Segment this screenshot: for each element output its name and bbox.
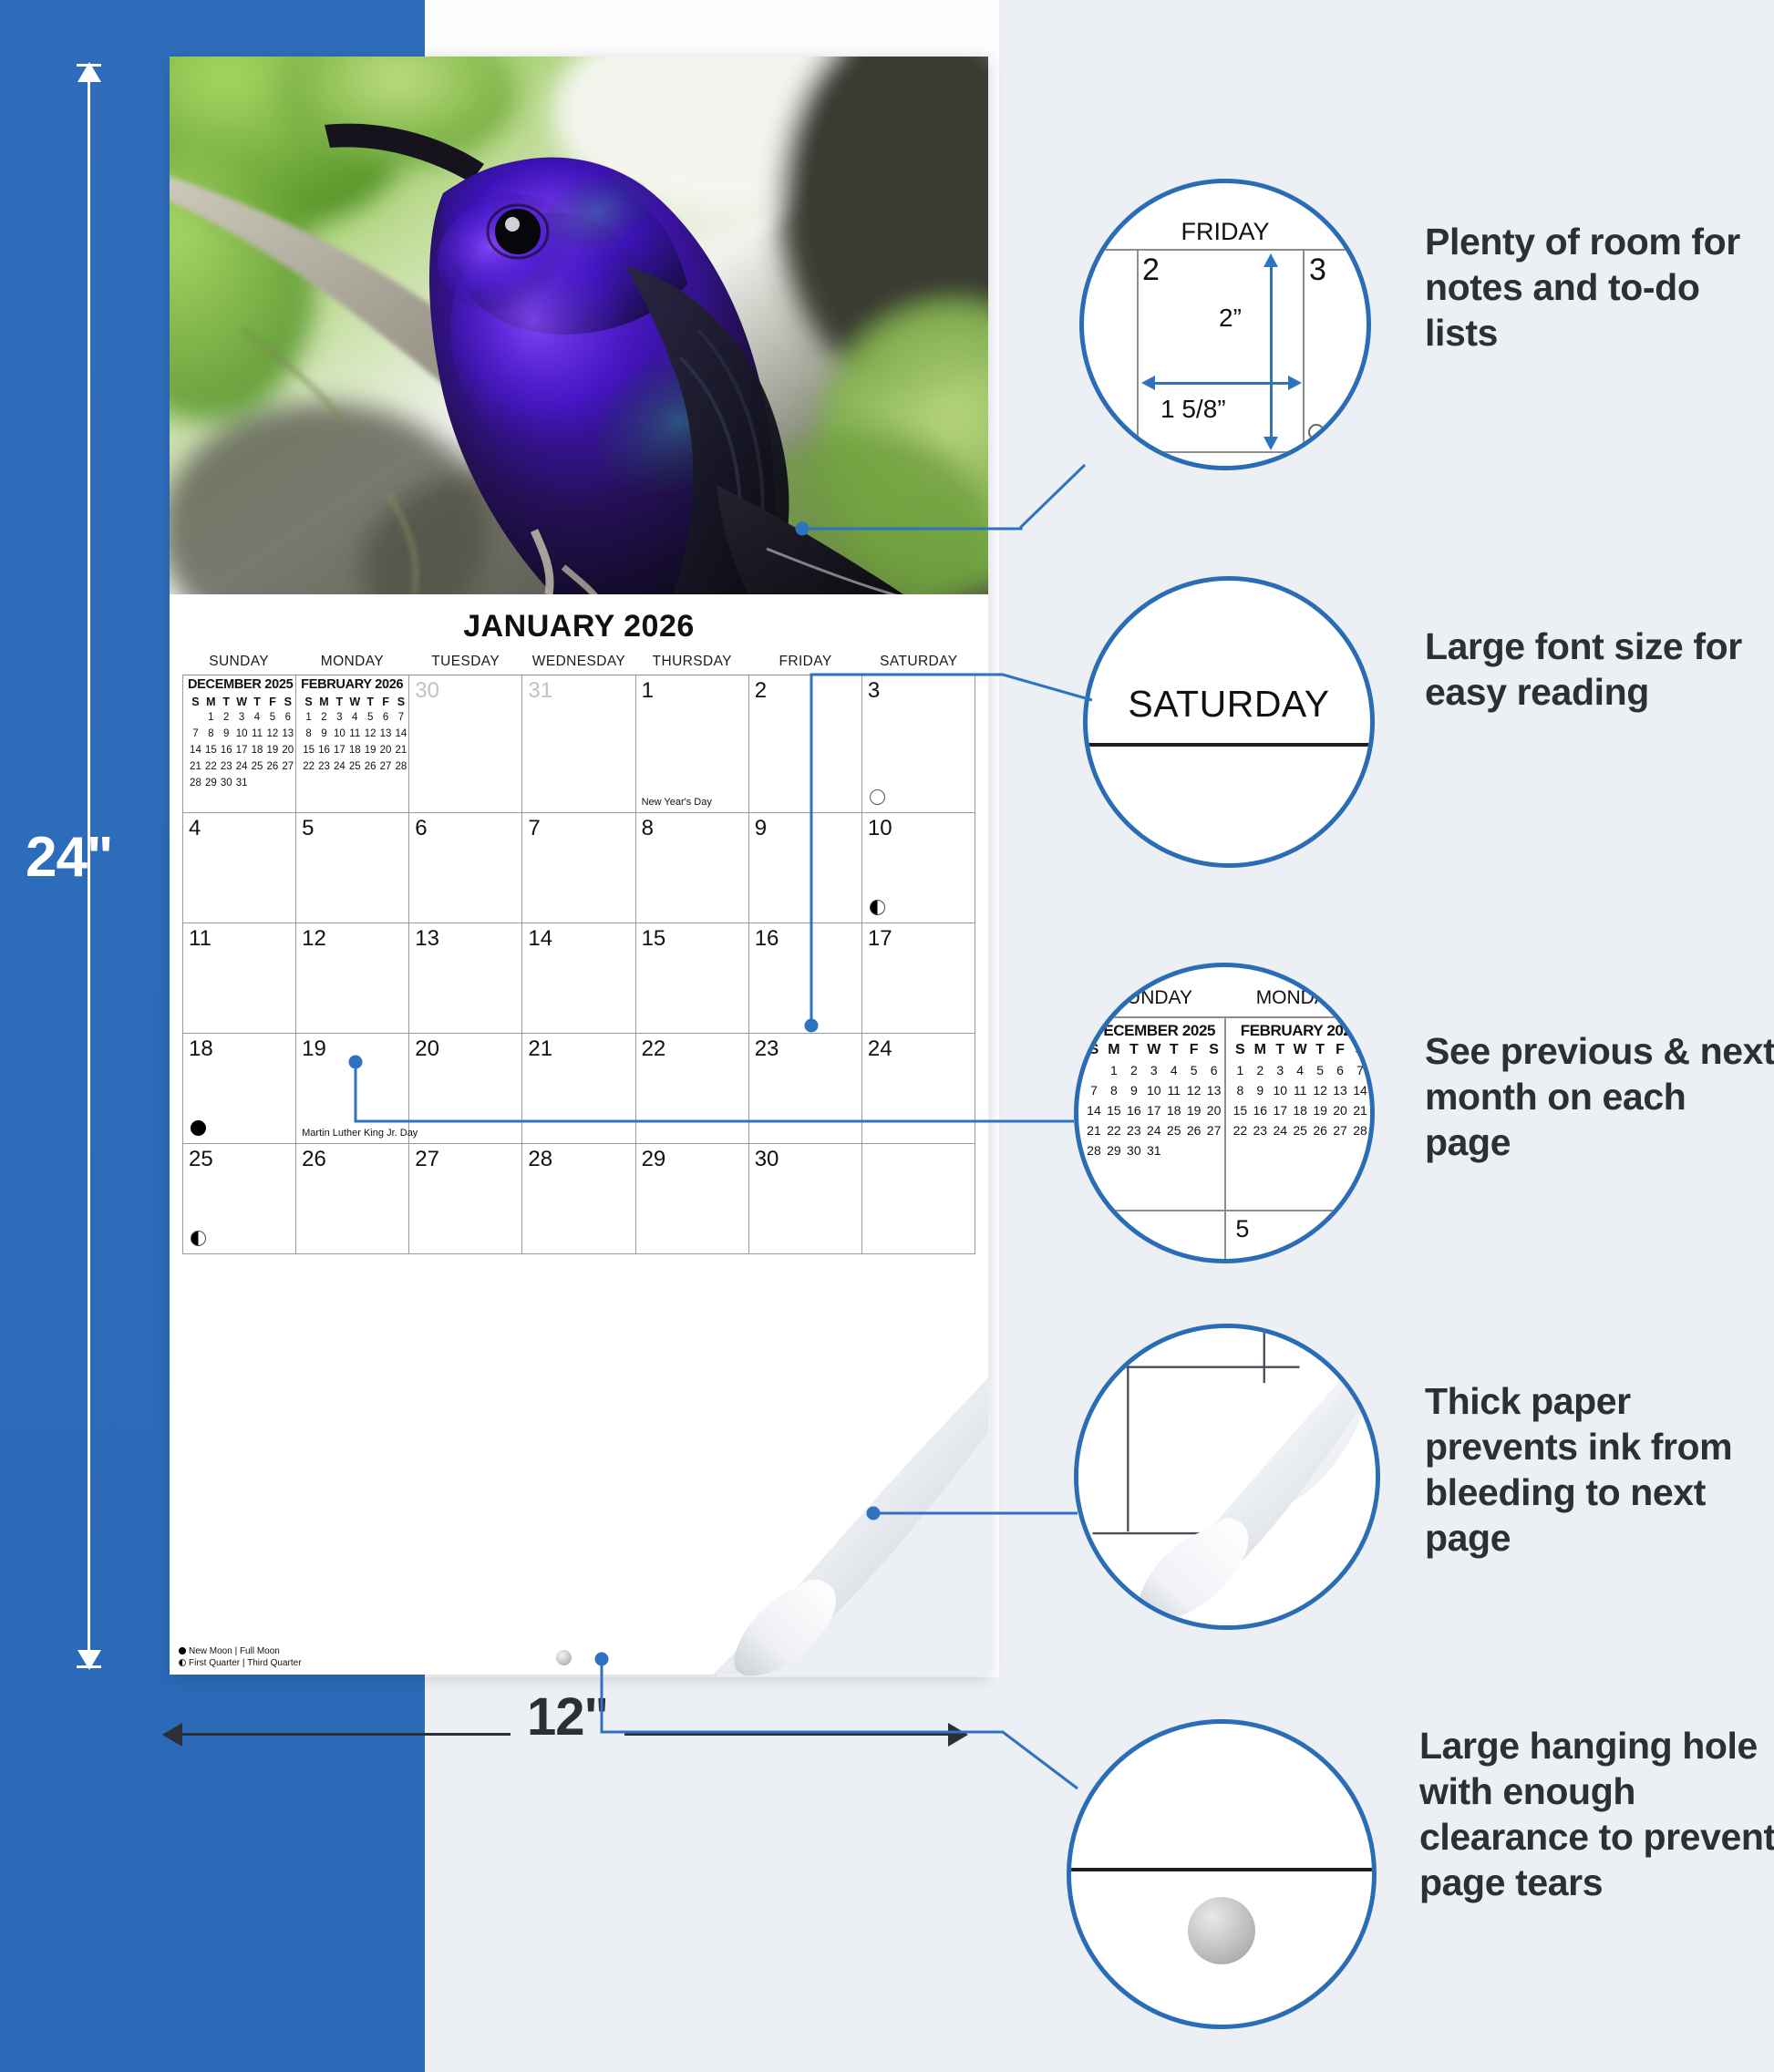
calendar-day-cell[interactable]: 14 <box>522 923 635 1033</box>
day-header-tuesday: TUESDAY <box>409 654 522 675</box>
callout-saturday-sample: SATURDAY <box>1088 683 1370 726</box>
legend-line-2: First Quarter | Third Quarter <box>179 1657 302 1669</box>
calendar-day-number: 11 <box>189 926 211 952</box>
mini-month-week: 28293031 <box>188 775 295 791</box>
callout-thick-paper <box>1074 1324 1380 1630</box>
cell-width-label: 1 5/8” <box>1160 395 1226 424</box>
calendar-day-number: 14 <box>528 926 552 952</box>
mini-month-week: 22232425262728 <box>301 758 408 775</box>
calendar-day-cell[interactable] <box>862 1144 975 1253</box>
mini-month-week: 1234567 <box>1230 1060 1370 1080</box>
calendar-day-number: 18 <box>189 1036 213 1062</box>
calendar-day-cell[interactable]: 26 <box>296 1144 409 1253</box>
day-header-row: SUNDAY MONDAY TUESDAY WEDNESDAY THURSDAY… <box>182 654 975 675</box>
calendar-day-cell[interactable]: 21 <box>522 1034 635 1143</box>
calendar-day-number: 16 <box>755 926 779 952</box>
mini-month-title: FEBRUARY 2026 <box>1230 1022 1370 1040</box>
feature-text-hole: Large hanging hole with enough clearance… <box>1419 1723 1774 1905</box>
full-moon-icon <box>870 789 885 805</box>
calendar-week-row: 252627282930 <box>183 1144 975 1254</box>
new-moon-icon <box>179 1647 186 1655</box>
calendar-day-cell[interactable]: 13 <box>409 923 522 1033</box>
infographic-stage: 24" 12" <box>0 0 1774 2072</box>
callout-date-3: 3 <box>1309 253 1326 288</box>
calendar-day-cell[interactable]: 1New Year's Day <box>636 675 749 812</box>
calendar-day-cell[interactable]: 29 <box>636 1144 749 1253</box>
calendar-day-cell[interactable]: 11 <box>183 923 296 1033</box>
mini-month-day-headers: SMTWTFS <box>188 695 295 709</box>
new-moon-icon <box>191 1120 206 1136</box>
calendar-day-cell[interactable]: DECEMBER 2025SMTWTFS12345678910111213141… <box>183 675 296 812</box>
mini-month-day-headers: SMTWTFS <box>1230 1040 1370 1060</box>
mini-month-title: FEBRUARY 2026 <box>301 677 408 692</box>
calendar-day-cell[interactable]: FEBRUARY 2026SMTWTFS12345678910111213141… <box>296 675 409 812</box>
calendar-day-number: 20 <box>415 1036 439 1062</box>
calendar-day-number: 30 <box>415 678 439 704</box>
calendar-day-number: 21 <box>528 1036 552 1062</box>
mini-month-day-headers: SMTWTFS <box>1084 1040 1224 1060</box>
mini-month-week: 21222324252627 <box>188 758 295 775</box>
calendar-day-number: 13 <box>415 926 439 952</box>
calendar-day-cell[interactable]: 31 <box>522 675 635 812</box>
calendar-day-cell[interactable]: 17 <box>862 923 975 1033</box>
callout-grid-line-right <box>1303 249 1305 470</box>
callout-sunday-header: SUNDAY <box>1080 987 1226 1009</box>
calendar-day-number: 22 <box>642 1036 666 1062</box>
cell-height-label: 2” <box>1219 304 1242 333</box>
third-moon-icon <box>870 900 885 915</box>
calendar-day-cell[interactable]: 12 <box>296 923 409 1033</box>
calendar-day-number: 25 <box>189 1147 213 1172</box>
callout-next-date: 5 <box>1235 1215 1249 1243</box>
mini-month-week: 78910111213 <box>188 726 295 742</box>
calendar-day-number: 7 <box>528 816 540 841</box>
moon-phase-legend: New Moon | Full Moon First Quarter | Thi… <box>179 1645 302 1669</box>
mini-month-title: DECEMBER 2025 <box>1084 1022 1224 1040</box>
height-dimension-label: 24" <box>26 825 112 890</box>
day-header-thursday: THURSDAY <box>635 654 748 675</box>
day-header-wednesday: WEDNESDAY <box>522 654 635 675</box>
arrow-up-icon <box>77 62 101 82</box>
mini-month-day-headers: SMTWTFS <box>301 695 408 709</box>
full-moon-icon <box>1308 424 1325 440</box>
feature-text-notes: Plenty of room for notes and to-do lists <box>1425 219 1771 356</box>
callout-date-2: 2 <box>1142 253 1160 288</box>
calendar-day-cell[interactable]: 27 <box>409 1144 522 1253</box>
callout-grid-line-left <box>1137 249 1139 470</box>
calendar-day-number: 15 <box>642 926 666 952</box>
mini-month-title: DECEMBER 2025 <box>188 677 295 692</box>
calendar-page: JANUARY 2026 SUNDAY MONDAY TUESDAY WEDNE… <box>170 594 988 1675</box>
feature-text-months: See previous & next month on each page <box>1425 1028 1774 1165</box>
feature-text-paper: Thick paper prevents ink from bleeding t… <box>1425 1378 1774 1561</box>
mini-month-week: 891011121314 <box>301 726 408 742</box>
callout-adjacent-months: SUNDAY MONDAY DECEMBER 2025SMTWTFS123456… <box>1074 963 1375 1263</box>
calendar-holiday-label: Martin Luther King Jr. Day <box>302 1128 418 1139</box>
calendar-week-row: DECEMBER 2025SMTWTFS12345678910111213141… <box>183 675 975 813</box>
calendar-day-number: 2 <box>755 678 767 704</box>
mini-month-week: 22232425262728 <box>1230 1120 1370 1140</box>
callout-grid-line-bottom <box>1084 451 1367 453</box>
calendar-day-cell[interactable]: 23 <box>749 1034 862 1143</box>
calendar-day-cell[interactable]: 5 <box>296 813 409 923</box>
calendar-day-number: 24 <box>868 1036 892 1062</box>
hanging-hole <box>556 1650 572 1665</box>
calendar-day-cell[interactable]: 4 <box>183 813 296 923</box>
mini-month-week: 123456 <box>188 709 295 726</box>
calendar-day-number: 8 <box>642 816 654 841</box>
calendar-day-cell[interactable]: 8 <box>636 813 749 923</box>
first-quarter-icon <box>179 1659 186 1666</box>
calendar-grid: DECEMBER 2025SMTWTFS12345678910111213141… <box>182 675 975 1254</box>
callout-hanging-hole <box>1067 1719 1377 2029</box>
calendar-week-row: 11121314151617 <box>183 923 975 1034</box>
legend-line-1: New Moon | Full Moon <box>179 1645 302 1657</box>
first-moon-icon <box>191 1231 206 1246</box>
callout-large-font: SATURDAY <box>1083 576 1375 868</box>
arrow-right-icon <box>948 1723 968 1747</box>
day-header-monday: MONDAY <box>295 654 408 675</box>
callout-header-rule <box>1084 1016 1374 1018</box>
callout-monday-header: MONDAY <box>1224 987 1370 1009</box>
mini-month-week: 891011121314 <box>1230 1080 1370 1100</box>
width-measure-arrow <box>1153 382 1290 385</box>
calendar-day-number: 29 <box>642 1147 666 1172</box>
calendar-day-number: 31 <box>528 678 552 704</box>
calendar-day-number: 6 <box>415 816 427 841</box>
day-header-friday: FRIDAY <box>748 654 861 675</box>
hummingbird-photo <box>170 57 988 594</box>
arrow-down-icon <box>1263 437 1278 450</box>
calendar-holiday-label: New Year's Day <box>642 797 712 808</box>
callout-underline-rule <box>1088 743 1370 747</box>
mini-month-week: 1234567 <box>301 709 408 726</box>
mini-month-week: 15161718192021 <box>1230 1100 1370 1120</box>
height-measure-arrow <box>1270 265 1273 438</box>
calendar-day-cell[interactable]: 20 <box>409 1034 522 1143</box>
calendar-week-row: 45678910 <box>183 813 975 923</box>
calendar-day-cell[interactable]: 25 <box>183 1144 296 1253</box>
arrow-down-icon <box>77 1650 101 1670</box>
calendar-day-cell[interactable]: 10 <box>862 813 975 923</box>
callout-friday-header: FRIDAY <box>1084 218 1367 246</box>
mini-month-week: 14151617181920 <box>188 742 295 758</box>
arrow-up-icon <box>1263 253 1278 267</box>
mini-month-february: FEBRUARY 2026SMTWTFS12345678910111213141… <box>1230 1022 1370 1140</box>
feature-text-font: Large font size for easy reading <box>1425 624 1771 715</box>
calendar-day-number: 10 <box>868 816 892 841</box>
calendar-day-cell[interactable]: 16 <box>749 923 862 1033</box>
calendar-day-number: 23 <box>755 1036 779 1062</box>
calendar-day-cell[interactable]: 15 <box>636 923 749 1033</box>
hanging-hole-icon <box>1188 1897 1255 1964</box>
calendar-day-number: 17 <box>868 926 892 952</box>
calendar-day-cell[interactable]: 30 <box>749 1144 862 1253</box>
day-header-saturday: SATURDAY <box>862 654 975 675</box>
callout-page-edge-rule <box>1071 1868 1372 1871</box>
mini-month-week: 14151617181920 <box>1084 1100 1224 1120</box>
calendar-week-row: 1819Martin Luther King Jr. Day2021222324 <box>183 1034 975 1144</box>
callout-column-divider <box>1224 1016 1226 1263</box>
calendar-product: JANUARY 2026 SUNDAY MONDAY TUESDAY WEDNE… <box>170 57 988 1675</box>
calendar-day-cell[interactable]: 7 <box>522 813 635 923</box>
mini-month-week: 78910111213 <box>1084 1080 1224 1100</box>
mini-month-december: DECEMBER 2025SMTWTFS12345678910111213141… <box>1084 1022 1224 1160</box>
calendar-day-number: 9 <box>755 816 767 841</box>
calendar-day-cell[interactable]: 3 <box>862 675 975 812</box>
calendar-day-number: 3 <box>868 678 880 704</box>
calendar-day-cell[interactable]: 9 <box>749 813 862 923</box>
paper-curl-illustration <box>1078 1328 1376 1625</box>
calendar-day-cell[interactable]: 24 <box>862 1034 975 1143</box>
callout-header-rule <box>1084 249 1367 251</box>
mini-month-week: 28293031 <box>1084 1140 1224 1160</box>
mini-month-week: 21222324252627 <box>1084 1120 1224 1140</box>
arrow-left-icon <box>1141 376 1155 390</box>
calendar-day-number: 5 <box>302 816 314 841</box>
calendar-day-number: 30 <box>755 1147 779 1172</box>
calendar-day-number: 27 <box>415 1147 439 1172</box>
day-header-sunday: SUNDAY <box>182 654 295 675</box>
calendar-month-title: JANUARY 2026 <box>182 609 975 644</box>
calendar-day-number: 4 <box>189 816 201 841</box>
calendar-day-cell[interactable]: 19Martin Luther King Jr. Day <box>296 1034 409 1143</box>
calendar-day-number: 28 <box>528 1147 552 1172</box>
callout-row-rule <box>1086 1210 1372 1211</box>
callout-notes-space: FRIDAY 2 3 2 2” 1 5/8” <box>1079 179 1371 470</box>
calendar-day-cell[interactable]: 2 <box>749 675 862 812</box>
calendar-day-number: 19 <box>302 1036 326 1062</box>
calendar-day-cell[interactable]: 28 <box>522 1144 635 1253</box>
calendar-day-number: 26 <box>302 1147 326 1172</box>
mini-month-week: 15161718192021 <box>301 742 408 758</box>
calendar-day-number: 12 <box>302 926 326 952</box>
width-dimension-label: 12" <box>511 1686 624 1747</box>
calendar-day-cell[interactable]: 22 <box>636 1034 749 1143</box>
arrow-left-icon <box>162 1723 182 1747</box>
calendar-day-cell[interactable]: 30 <box>409 675 522 812</box>
calendar-day-cell[interactable]: 6 <box>409 813 522 923</box>
calendar-day-number: 1 <box>642 678 654 704</box>
arrow-right-icon <box>1288 376 1302 390</box>
calendar-day-cell[interactable]: 18 <box>183 1034 296 1143</box>
mini-month-week: 123456 <box>1084 1060 1224 1080</box>
